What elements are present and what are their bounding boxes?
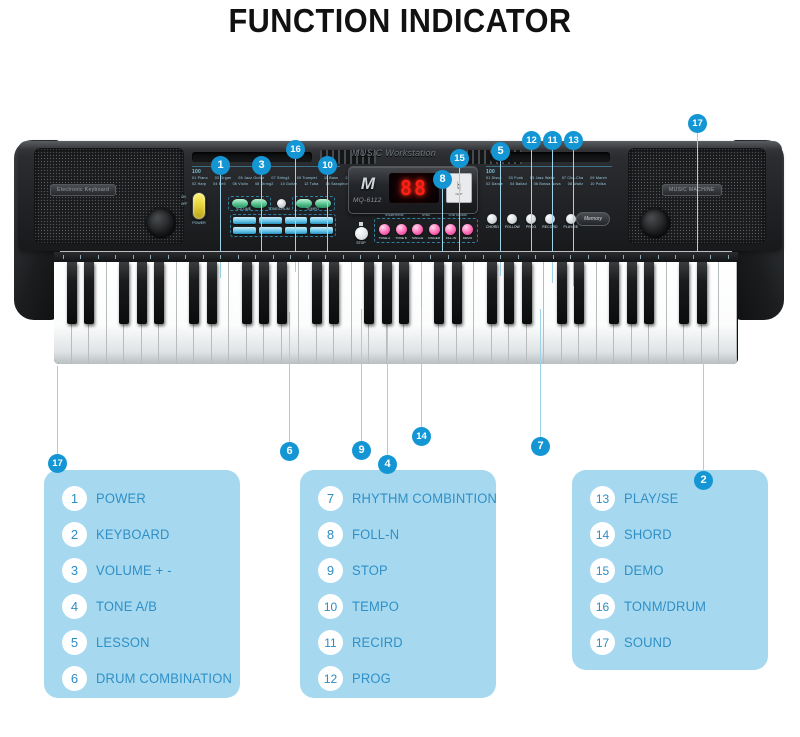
- legend-number-badge: 5: [62, 630, 87, 655]
- power-off-label: OFF: [181, 201, 187, 208]
- power-onoff-marks: ON OFF: [181, 194, 187, 208]
- black-key[interactable]: [277, 262, 287, 324]
- black-key[interactable]: [207, 262, 217, 324]
- tone-a-dot[interactable]: [379, 224, 390, 235]
- callout-marker-16: 16: [286, 140, 305, 159]
- white-key[interactable]: [719, 262, 737, 364]
- for-chord-label: FOR CHORD: [449, 213, 467, 217]
- key-tick: [483, 255, 484, 259]
- led-display-screen: 88: [389, 173, 439, 203]
- legend-number-badge: 9: [318, 558, 343, 583]
- black-key[interactable]: [154, 262, 164, 324]
- play-se-dot[interactable]: [566, 214, 576, 224]
- black-key[interactable]: [84, 262, 94, 324]
- left-speaker-driver: [146, 208, 176, 238]
- legend-item-2: 2KEYBOARD: [62, 522, 173, 547]
- callout-marker-10: 10: [318, 156, 337, 175]
- key-tick: [535, 255, 536, 259]
- follow-button[interactable]: FOLLOW: [505, 214, 520, 229]
- black-key[interactable]: [242, 262, 252, 324]
- legend-item-1: 1POWER: [62, 486, 148, 511]
- finger-dot[interactable]: [429, 224, 440, 235]
- callout-marker-5: 5: [491, 142, 510, 161]
- black-key[interactable]: [487, 262, 497, 324]
- callout-marker-14: 14: [412, 427, 431, 446]
- callout-marker-12: 12: [522, 131, 541, 150]
- key-tick: [465, 255, 466, 259]
- legend-label: VOLUME + -: [96, 563, 172, 578]
- legend-item-9: 9STOP: [318, 558, 389, 583]
- chord-label: CHORD: [486, 225, 499, 229]
- key-tick: [98, 255, 99, 259]
- drum-pad-5[interactable]: [233, 227, 256, 234]
- fill-in-button[interactable]: FILL-IN: [443, 224, 458, 240]
- black-key[interactable]: [329, 262, 339, 324]
- legend-number-badge: 7: [318, 486, 343, 511]
- key-tick: [133, 255, 134, 259]
- legend-number-badge: 12: [318, 666, 343, 691]
- callout-leader-line: [261, 175, 262, 260]
- callout-marker-11: 11: [543, 131, 562, 150]
- callout-leader-line: [703, 361, 704, 471]
- right-speaker-driver: [640, 208, 670, 238]
- legend-number-badge: 1: [62, 486, 87, 511]
- callout-marker-9: 9: [352, 441, 371, 460]
- key-tick: [150, 255, 151, 259]
- key-tick: [658, 255, 659, 259]
- legend-label: KEYBOARD: [96, 527, 170, 542]
- legend-label: FOLL-N: [352, 527, 399, 542]
- callout-marker-17: 17: [688, 114, 707, 133]
- callout-marker-3: 3: [252, 156, 271, 175]
- legend-number-badge: 15: [590, 558, 615, 583]
- finger-button[interactable]: FINGER: [427, 224, 442, 240]
- key-tick: [395, 255, 396, 259]
- key-tick: [413, 255, 414, 259]
- callout-marker-4: 4: [378, 455, 397, 474]
- key-tick: [640, 255, 641, 259]
- volume-label: VOLUME: [236, 207, 251, 211]
- piano-keyboard[interactable]: [54, 252, 738, 364]
- key-tick: [553, 255, 554, 259]
- power-on-label: ON: [181, 194, 187, 201]
- stop-square-icon: [359, 222, 363, 226]
- key-tick: [728, 255, 729, 259]
- callout-marker-2: 2: [694, 471, 713, 490]
- key-tick: [308, 255, 309, 259]
- tone-b-label: TONE B: [394, 236, 409, 240]
- legend-item-4: 4TONE A/B: [62, 594, 160, 619]
- legend-item-13: 13PLAY/SE: [590, 486, 681, 511]
- record-label: RECORD: [542, 225, 557, 229]
- stop-control[interactable]: STOP: [352, 222, 370, 245]
- voice-item: 02 Harp: [192, 181, 206, 187]
- black-key[interactable]: [364, 262, 374, 324]
- legend-column-3: 13PLAY/SE14SHORD15DEMO16TONM/DRUM17SOUND: [572, 470, 768, 670]
- drum-pad-4[interactable]: [310, 217, 333, 224]
- legend-label: PROG: [352, 671, 391, 686]
- black-key[interactable]: [434, 262, 444, 324]
- rhythm-item: 06 Bossa Nova: [534, 181, 561, 187]
- key-tick: [273, 255, 274, 259]
- legend-item-7: 7RHYTHM COMBINTION: [318, 486, 503, 511]
- stop-label: STOP: [352, 241, 370, 245]
- fill-in-dot[interactable]: [445, 224, 456, 235]
- legend-label: TONE A/B: [96, 599, 157, 614]
- black-key[interactable]: [312, 262, 322, 324]
- callout-leader-line: [552, 150, 553, 283]
- key-tick: [203, 255, 204, 259]
- rhythm-item: 10 Polka: [590, 181, 606, 187]
- legend-item-6: 6DRUM COMBINATION: [62, 666, 238, 691]
- key-tick: [518, 255, 519, 259]
- chord-dot[interactable]: [487, 214, 497, 224]
- key-tick: [238, 255, 239, 259]
- callout-marker-13: 13: [564, 131, 583, 150]
- legend-item-12: 12PROG: [318, 666, 393, 691]
- black-key[interactable]: [67, 262, 77, 324]
- voice-row-2: 02 Harp 04 Bell 06 Violin 08 String2 10 …: [192, 181, 340, 187]
- legend-number-badge: 16: [590, 594, 615, 619]
- drum-pad-2[interactable]: [259, 217, 282, 224]
- key-tick: [115, 255, 116, 259]
- single-label: SINGLE: [410, 236, 425, 240]
- demo-button[interactable]: DEMO: [460, 224, 475, 240]
- tone-b-button[interactable]: TONE B: [394, 224, 409, 240]
- record-button[interactable]: RECORD: [542, 214, 557, 229]
- callout-marker-6: 6: [280, 442, 299, 461]
- key-tick: [255, 255, 256, 259]
- sync-label: SYNC: [422, 213, 430, 217]
- key-tick: [343, 255, 344, 259]
- legend-item-3: 3VOLUME + -: [62, 558, 175, 583]
- black-key[interactable]: [574, 262, 584, 324]
- rhythm-item: 08 Waltz: [568, 181, 583, 187]
- black-key[interactable]: [452, 262, 462, 324]
- key-tick: [378, 255, 379, 259]
- callout-leader-line: [57, 366, 58, 454]
- black-key[interactable]: [697, 262, 707, 324]
- voice-item: 12 Tuba: [304, 181, 318, 187]
- model-number: MQ-6112: [353, 197, 382, 204]
- key-tick: [623, 255, 624, 259]
- legend-column-2: 7RHYTHM COMBINTION8FOLL-N9STOP10TEMPO11R…: [300, 470, 496, 698]
- black-key[interactable]: [627, 262, 637, 324]
- legend-label: SOUND: [624, 635, 672, 650]
- legend-label: LESSON: [96, 635, 150, 650]
- tone-drum-label: TONE/DRUM: [268, 207, 290, 211]
- key-tick: [63, 255, 64, 259]
- black-key[interactable]: [399, 262, 409, 324]
- black-key[interactable]: [382, 262, 392, 324]
- callout-leader-line: [387, 309, 388, 455]
- black-key[interactable]: [609, 262, 619, 324]
- callout-marker-17: 17: [48, 454, 67, 473]
- legend-number-badge: 11: [318, 630, 343, 655]
- legend-label: DEMO: [624, 563, 664, 578]
- drum-combination-button-grid[interactable]: [230, 214, 336, 237]
- key-tick: [693, 255, 694, 259]
- brand-logo-icon: M: [355, 173, 381, 195]
- black-key[interactable]: [679, 262, 689, 324]
- callout-leader-line: [421, 309, 422, 427]
- black-key[interactable]: [557, 262, 567, 324]
- volume-plus-button[interactable]: [251, 199, 267, 208]
- legend-number-badge: 6: [62, 666, 87, 691]
- callout-leader-line: [289, 312, 290, 442]
- tone-a-label: TONE A: [377, 236, 392, 240]
- legend-label: DRUM COMBINATION: [96, 671, 232, 686]
- follow-dot[interactable]: [507, 214, 517, 224]
- single-button[interactable]: SINGLE: [410, 224, 425, 240]
- keyboard-top-lip: [54, 252, 738, 262]
- key-tick: [290, 255, 291, 259]
- callout-marker-8: 8: [433, 170, 452, 189]
- black-key[interactable]: [644, 262, 654, 324]
- key-tick: [168, 255, 169, 259]
- follow-label: FOLLOW: [505, 225, 520, 229]
- key-tick: [360, 255, 361, 259]
- key-tick: [570, 255, 571, 259]
- black-key[interactable]: [259, 262, 269, 324]
- power-button[interactable]: [192, 192, 206, 220]
- tone-b-dot[interactable]: [396, 224, 407, 235]
- legend-number-badge: 3: [62, 558, 87, 583]
- strip-top-labels: START/STOP SYNC FOR CHORD: [376, 213, 476, 217]
- legend-number-badge: 4: [62, 594, 87, 619]
- keyboard-product-photo: Electronic Keyboard MUSIC MACHINE MUSIC …: [0, 56, 800, 446]
- legend-label: STOP: [352, 563, 388, 578]
- stop-button[interactable]: [355, 227, 368, 240]
- left-control-panel: 100 01 Piano 03 Organ 05 Jazz Guitar 07 …: [192, 166, 340, 248]
- key-tick: [605, 255, 606, 259]
- legend-item-11: 11RECIRD: [318, 630, 405, 655]
- legend-item-5: 5LESSON: [62, 630, 152, 655]
- legend-label: RHYTHM COMBINTION: [352, 491, 497, 506]
- key-tick: [588, 255, 589, 259]
- legend-number-badge: 8: [318, 522, 343, 547]
- drum-pad-6[interactable]: [259, 227, 282, 234]
- page-title: FUNCTION INDICATOR: [28, 2, 772, 40]
- legend-item-16: 16TONM/DRUM: [590, 594, 710, 619]
- function-button-group[interactable]: TONE A TONE B SINGLE FINGER FILL-IN: [374, 218, 478, 243]
- legend-item-17: 17SOUND: [590, 630, 674, 655]
- memory-badge: Memory: [576, 212, 610, 226]
- key-tick: [710, 255, 711, 259]
- tempo-label: TEMPO: [306, 207, 319, 211]
- function-indicator-page: FUNCTION INDICATOR Electronic Keyboard M…: [0, 0, 800, 737]
- right-speaker-badge: MUSIC MACHINE: [662, 184, 722, 196]
- legend-number-badge: 13: [590, 486, 615, 511]
- rhythm-list: 100 01 Disco 03 Funk 05 Jazz Waltz 07 Ch…: [486, 166, 612, 188]
- demo-dot[interactable]: [462, 224, 473, 235]
- legend-label: SHORD: [624, 527, 672, 542]
- callout-leader-line: [220, 175, 221, 278]
- black-key[interactable]: [119, 262, 129, 324]
- legend-item-15: 15DEMO: [590, 558, 665, 583]
- legend-number-badge: 10: [318, 594, 343, 619]
- key-tick: [500, 255, 501, 259]
- right-control-panel: 100 01 Disco 03 Funk 05 Jazz Waltz 07 Ch…: [486, 166, 612, 248]
- drum-pad-8[interactable]: [310, 227, 333, 234]
- key-tick: [325, 255, 326, 259]
- legend-column-1: 1POWER2KEYBOARD3VOLUME + -4TONE A/B5LESS…: [44, 470, 240, 698]
- callout-marker-15: 15: [450, 149, 469, 168]
- legend-label: RECIRD: [352, 635, 403, 650]
- black-key[interactable]: [504, 262, 514, 324]
- callout-leader-line: [327, 175, 328, 261]
- legend-item-14: 14SHORD: [590, 522, 674, 547]
- voice-item: 06 Violin: [233, 181, 249, 187]
- key-tick: [220, 255, 221, 259]
- tone-a-button[interactable]: TONE A: [377, 224, 392, 240]
- callout-leader-line: [361, 309, 362, 441]
- callout-marker-1: 1: [211, 156, 230, 175]
- voice-item: 08 String2: [255, 181, 273, 187]
- power-label: POWER: [192, 221, 206, 225]
- power-control[interactable]: ON OFF POWER: [192, 192, 206, 225]
- start-stop-label: START/STOP: [385, 213, 404, 217]
- key-tick: [448, 255, 449, 259]
- brand-script-label: MUSIC Workstation: [352, 148, 462, 162]
- record-dot[interactable]: [545, 214, 555, 224]
- legend-number-badge: 17: [590, 630, 615, 655]
- callout-leader-line: [540, 309, 541, 437]
- drum-pad-1[interactable]: [233, 217, 256, 224]
- key-tick: [80, 255, 81, 259]
- key-tick: [675, 255, 676, 259]
- led-display-value: 88: [400, 176, 428, 200]
- left-speaker-badge: Electronic Keyboard: [50, 184, 116, 196]
- legend-item-8: 8FOLL-N: [318, 522, 401, 547]
- legend-label: TONM/DRUM: [624, 599, 706, 614]
- callout-marker-7: 7: [531, 437, 550, 456]
- key-tick: [185, 255, 186, 259]
- demo-label: DEMO: [460, 236, 475, 240]
- finger-label: FINGER: [427, 236, 442, 240]
- rhythm-row-2: 02 Dance 04 Ballad 06 Bossa Nova 08 Walt…: [486, 181, 612, 187]
- chord-button[interactable]: CHORD: [486, 214, 499, 229]
- black-key[interactable]: [137, 262, 147, 324]
- legend-label: POWER: [96, 491, 146, 506]
- legend-number-badge: 14: [590, 522, 615, 547]
- legend-number-badge: 2: [62, 522, 87, 547]
- single-dot[interactable]: [412, 224, 423, 235]
- black-key[interactable]: [522, 262, 532, 324]
- legend-label: TEMPO: [352, 599, 399, 614]
- legend-label: PLAY/SE: [624, 491, 678, 506]
- play-se-label: PLAY/SE: [564, 225, 579, 229]
- legend-item-10: 10TEMPO: [318, 594, 401, 619]
- rhythm-item: 04 Ballad: [510, 181, 527, 187]
- fill-in-label: FILL-IN: [443, 236, 458, 240]
- legend-section: 1POWER2KEYBOARD3VOLUME + -4TONE A/B5LESS…: [0, 470, 800, 720]
- black-key[interactable]: [189, 262, 199, 324]
- key-tick: [430, 255, 431, 259]
